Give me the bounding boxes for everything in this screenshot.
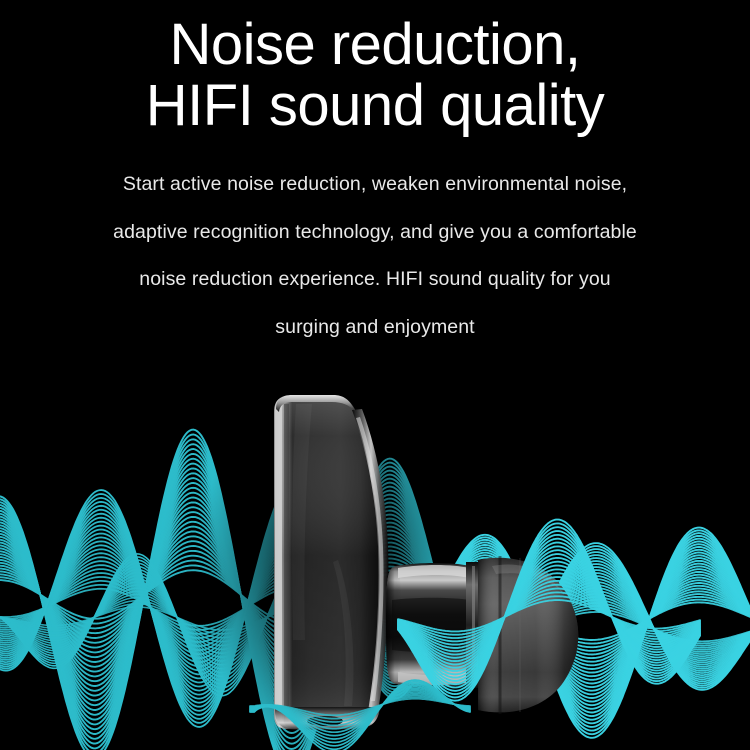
page-title: Noise reduction, HIFI sound quality (0, 0, 750, 137)
subcopy-line-1: Start active noise reduction, weaken env… (0, 161, 750, 209)
subcopy-line-4: surging and enjoyment (0, 304, 750, 352)
product-feature-banner: Noise reduction, HIFI sound quality Star… (0, 0, 750, 750)
headline-line-2: HIFI sound quality (0, 75, 750, 136)
text-block: Noise reduction, HIFI sound quality Star… (0, 0, 750, 352)
subcopy: Start active noise reduction, weaken env… (0, 137, 750, 352)
subcopy-line-2: adaptive recognition technology, and giv… (0, 209, 750, 257)
subcopy-line-3: noise reduction experience. HIFI sound q… (0, 256, 750, 304)
headline-line-1: Noise reduction, (0, 14, 750, 75)
